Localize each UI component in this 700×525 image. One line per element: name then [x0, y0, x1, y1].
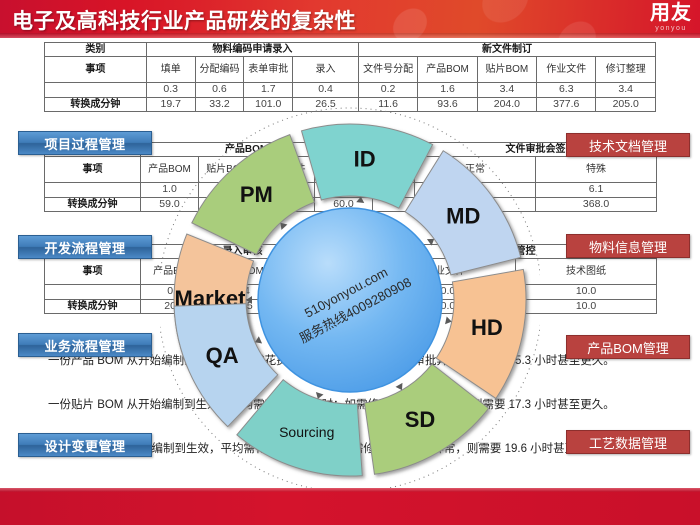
slide-footer-bar: [0, 488, 700, 525]
cell-blank: [45, 83, 147, 98]
wheel-segment-label: PM: [240, 182, 273, 207]
cell-hours: 6.3: [537, 83, 596, 98]
cell-minutes: 205.0: [596, 97, 656, 112]
tag-label: 业务流程管理: [44, 336, 125, 355]
cell-hours: 1.6: [418, 83, 477, 98]
tag-label: 项目过程管理: [44, 134, 125, 153]
wheel-segment-label: ID: [354, 147, 376, 172]
wheel-segment-label: MD: [446, 204, 480, 229]
wheel-segment-label: SD: [405, 407, 436, 432]
cell-item-label: 事项: [45, 259, 141, 285]
wheel-arrow-icon: [246, 296, 252, 304]
cell-col-head: 产品BOM: [418, 57, 477, 83]
yonyou-logo: 用友 yonyou: [650, 3, 692, 32]
cell-col-head: 表单审批: [244, 57, 293, 83]
cell-minutes: 368.0: [536, 197, 657, 212]
cell-item-label: 事项: [45, 57, 147, 83]
cell-item-label: 事项: [45, 157, 141, 183]
tag-business-process-management[interactable]: 业务流程管理: [18, 333, 152, 357]
wheel-segment-label: Sourcing: [279, 424, 334, 440]
cell-minutes: 377.6: [537, 97, 596, 112]
tag-label: 物料信息管理: [589, 237, 667, 256]
spreadsheet-area: 类别 物料编码申请录入 新文件制订 事项 填单 分配编码 表单审批 录入 文件号…: [0, 38, 700, 488]
tag-label: 产品BOM管理: [587, 338, 669, 357]
tag-development-process-management[interactable]: 开发流程管理: [18, 235, 152, 259]
wheel-arrow-icon: [427, 239, 434, 246]
wheel-arrow-icon: [445, 316, 452, 324]
wheel-core-circle: [258, 208, 442, 392]
cell-col-head: 修订整理: [596, 57, 656, 83]
tag-label: 工艺数据管理: [589, 433, 667, 452]
logo-text-en: yonyou: [650, 25, 692, 32]
cell-minutes-label: 转换成分钟: [45, 197, 141, 212]
logo-text-cn: 用友: [650, 3, 692, 23]
cell-hours: 0.6: [195, 83, 244, 98]
cell-hours: 3.4: [477, 83, 536, 98]
tag-technical-document-management[interactable]: 技术文档管理: [566, 133, 690, 157]
cell-col-head: 填单: [146, 57, 195, 83]
cell-col-head: 贴片BOM: [477, 57, 536, 83]
table-row: 类别 物料编码申请录入 新文件制订: [45, 43, 656, 57]
tag-design-change-management[interactable]: 设计变更管理: [18, 433, 152, 457]
slide-header: 电子及高科技行业产品研发的复杂性 用友 yonyou: [0, 0, 700, 38]
wheel-arrow-icon: [316, 392, 324, 399]
cell-hours: 0.2: [358, 83, 417, 98]
cell-group-2: 新文件制订: [358, 43, 655, 57]
cell-hours: 0.4: [293, 83, 359, 98]
cell-col-head: 作业文件: [537, 57, 596, 83]
page-title: 电子及高科技行业产品研发的复杂性: [12, 5, 356, 35]
tag-product-bom-management[interactable]: 产品BOM管理: [566, 335, 690, 359]
cell-col-head: 录入: [293, 57, 359, 83]
wheel-segment-label: QA: [206, 343, 239, 368]
cell-minutes-label: 转换成分钟: [45, 299, 141, 314]
cell-col-head: 文件号分配: [358, 57, 417, 83]
cell-hours: 1.7: [244, 83, 293, 98]
cell-hours: 3.4: [596, 83, 656, 98]
wheel-arrow-icon: [280, 223, 287, 230]
cell-category-label: 类别: [45, 43, 147, 57]
cell-minutes-label: 转换成分钟: [45, 97, 147, 112]
wheel-arrow-icon: [396, 383, 403, 390]
cell-blank: [45, 183, 141, 198]
cell-hours: 0.3: [146, 83, 195, 98]
table-row: 0.3 0.6 1.7 0.4 0.2 1.6 3.4 6.3 3.4: [45, 83, 656, 98]
wheel-arrow-icon: [356, 197, 364, 203]
tag-project-process-management[interactable]: 项目过程管理: [18, 131, 152, 155]
cell-hours: 6.1: [536, 183, 657, 198]
wheel-arrow-icon: [255, 336, 262, 343]
cell-group-1: 物料编码申请录入: [146, 43, 358, 57]
capability-wheel-diagram: MarketPMIDMDHDSDSourcingQA 510yonyou.com…: [160, 100, 540, 500]
tag-label: 技术文档管理: [589, 136, 667, 155]
wheel-segment-label: HD: [471, 315, 503, 340]
tag-material-information-management[interactable]: 物料信息管理: [566, 234, 690, 258]
tag-process-data-management[interactable]: 工艺数据管理: [566, 430, 690, 454]
tag-label: 设计变更管理: [44, 436, 125, 455]
cell-col-head: 特殊: [536, 157, 657, 183]
cell-blank: [45, 285, 141, 300]
table-row: 事项 填单 分配编码 表单审批 录入 文件号分配 产品BOM 贴片BOM 作业文…: [45, 57, 656, 83]
cell-col-head: 分配编码: [195, 57, 244, 83]
tag-label: 开发流程管理: [44, 238, 125, 257]
